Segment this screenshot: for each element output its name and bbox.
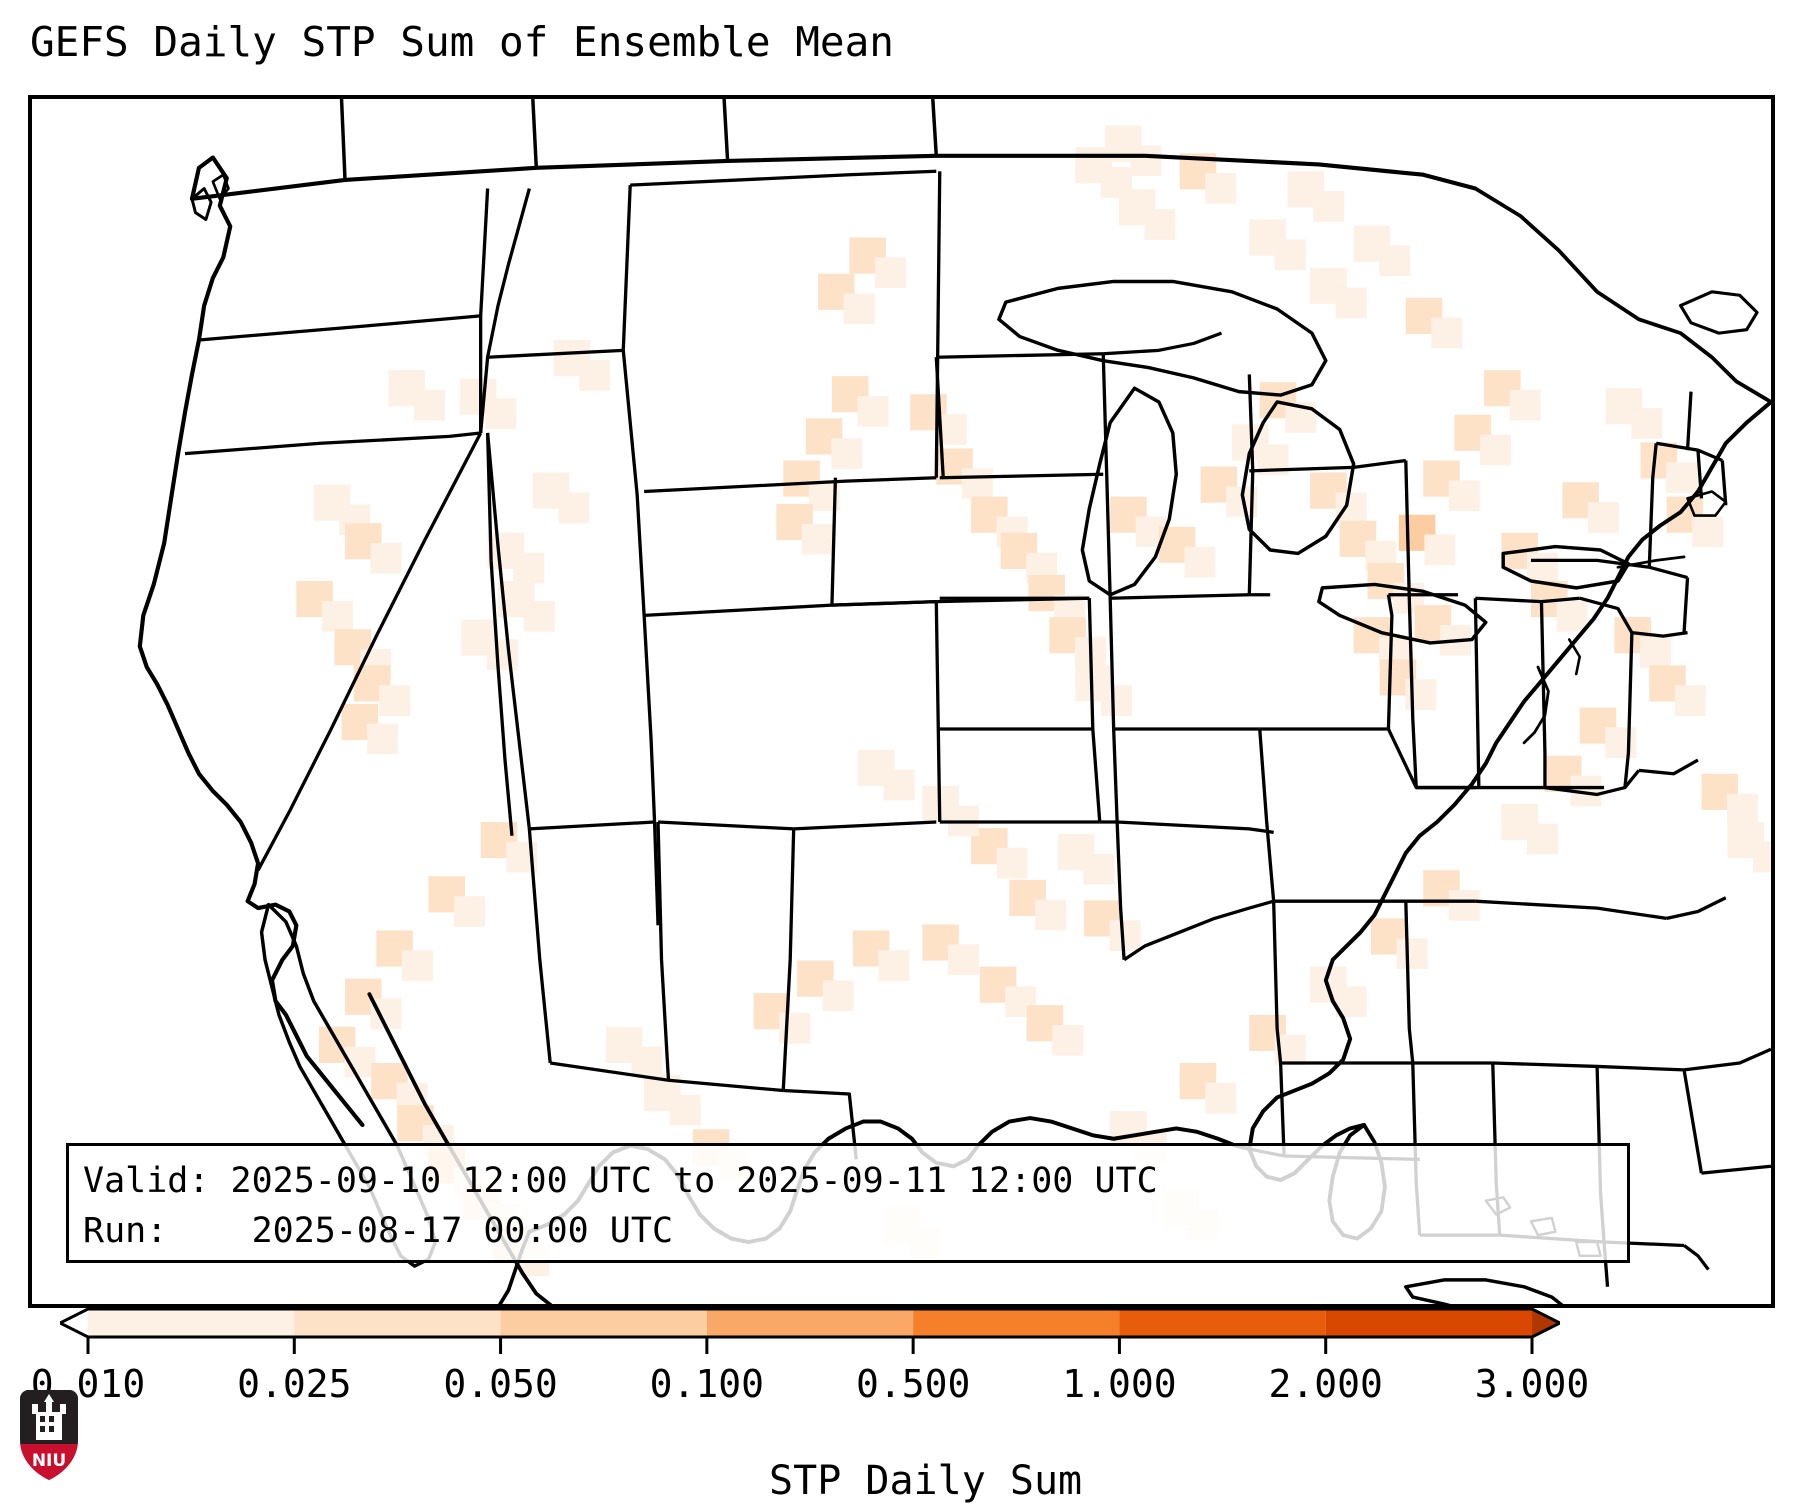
data-cell	[1588, 502, 1619, 533]
data-cell	[802, 524, 833, 555]
data-cell	[1336, 288, 1367, 319]
info-run-line: Run: 2025-08-17 00:00 UTC	[83, 1206, 1627, 1256]
data-cell	[524, 601, 555, 632]
colorbar-tick-label: 0.500	[856, 1362, 970, 1406]
colorbar-axis-label: STP Daily Sum	[0, 1412, 1803, 1504]
data-cell	[322, 601, 353, 632]
data-cell	[1510, 390, 1541, 421]
data-cell	[878, 950, 909, 981]
colorbar-band	[913, 1309, 1119, 1337]
data-cell	[858, 396, 889, 427]
data-cell	[670, 1095, 701, 1126]
data-cell	[487, 639, 518, 670]
data-cell	[1449, 480, 1480, 511]
data-cell	[367, 724, 398, 755]
data-cell	[831, 438, 862, 469]
colorbar-band	[1326, 1309, 1532, 1337]
data-cell	[1449, 890, 1480, 921]
data-cell	[1405, 679, 1436, 710]
colorbar-bands	[60, 1309, 1560, 1337]
data-cell	[948, 944, 979, 975]
data-cell	[962, 468, 993, 499]
data-cell	[454, 896, 485, 927]
colorbar-extend-high	[1532, 1309, 1560, 1337]
data-cell-layer	[296, 126, 1771, 1277]
niu-logo-text: NIU	[32, 1451, 66, 1471]
data-cell	[1336, 493, 1367, 524]
data-cell	[1631, 408, 1662, 439]
colorbar-band	[501, 1309, 707, 1337]
data-cell	[1527, 553, 1558, 584]
data-cell	[1184, 547, 1215, 578]
data-cell	[1101, 685, 1132, 716]
niu-logo: NIU	[16, 1382, 82, 1482]
data-cell	[1692, 517, 1723, 548]
colorbar-axis-label-text: STP Daily Sum	[769, 1458, 1082, 1504]
colorbar-tick-labels: 0.0100.0250.0500.1000.5001.0002.0003.000	[0, 1362, 1803, 1408]
data-cell	[579, 360, 610, 391]
data-cell	[1397, 938, 1428, 969]
colorbar-tick-label: 0.100	[650, 1362, 764, 1406]
colorbar-ticks	[88, 1337, 1532, 1354]
data-cell	[631, 1047, 662, 1078]
data-cell	[1480, 435, 1511, 466]
data-cell	[1557, 601, 1588, 632]
info-box: Valid: 2025-09-10 12:00 UTC to 2025-09-1…	[66, 1143, 1630, 1263]
data-cell	[779, 1013, 810, 1044]
colorbar-band	[1119, 1309, 1325, 1337]
data-cell	[1379, 245, 1410, 276]
data-cell	[1035, 900, 1066, 931]
data-cell	[371, 543, 402, 574]
colorbar-tick-label: 1.000	[1062, 1362, 1176, 1406]
data-cell	[414, 390, 445, 421]
data-cell	[558, 493, 589, 524]
data-cell	[1431, 318, 1462, 349]
data-cell	[1675, 685, 1706, 716]
data-cell	[1666, 462, 1697, 493]
data-cell	[1084, 854, 1115, 885]
data-cell	[1527, 824, 1558, 855]
colorbar-tick-label: 2.000	[1269, 1362, 1383, 1406]
data-cell	[1110, 920, 1141, 951]
colorbar-band	[707, 1309, 913, 1337]
data-cell	[884, 770, 915, 801]
data-cell	[1424, 535, 1455, 566]
info-valid-line: Valid: 2025-09-10 12:00 UTC to 2025-09-1…	[83, 1156, 1627, 1206]
data-cell	[485, 398, 516, 429]
colorbar-band	[88, 1309, 294, 1337]
data-cell	[844, 294, 875, 325]
colorbar[interactable]	[60, 1308, 1560, 1338]
data-cell	[1205, 173, 1236, 204]
data-cell	[1753, 842, 1771, 873]
data-cell	[513, 553, 544, 584]
colorbar-tick-label: 0.050	[443, 1362, 557, 1406]
map-canvas	[32, 99, 1771, 1304]
data-cell	[1313, 191, 1344, 222]
data-cell	[875, 257, 906, 288]
colorbar-band	[294, 1309, 500, 1337]
data-cell	[823, 980, 854, 1011]
data-cell	[1131, 145, 1162, 176]
page-title: GEFS Daily STP Sum of Ensemble Mean	[30, 18, 894, 66]
data-cell	[1727, 794, 1758, 825]
data-cell	[1275, 239, 1306, 270]
data-cell	[1605, 727, 1636, 758]
colorbar-svg[interactable]	[60, 1308, 1560, 1356]
map-panel: Valid: 2025-09-10 12:00 UTC to 2025-09-1…	[28, 95, 1775, 1308]
data-cell	[1052, 1025, 1083, 1056]
data-cell	[997, 848, 1028, 879]
data-cell	[379, 685, 410, 716]
colorbar-tick-label: 3.000	[1475, 1362, 1589, 1406]
data-cell	[1640, 637, 1671, 668]
colorbar-extend-low	[60, 1309, 88, 1337]
data-cell	[1205, 1083, 1236, 1114]
data-cell	[1144, 209, 1175, 240]
colorbar-tick-label: 0.025	[237, 1362, 351, 1406]
data-cell	[402, 950, 433, 981]
